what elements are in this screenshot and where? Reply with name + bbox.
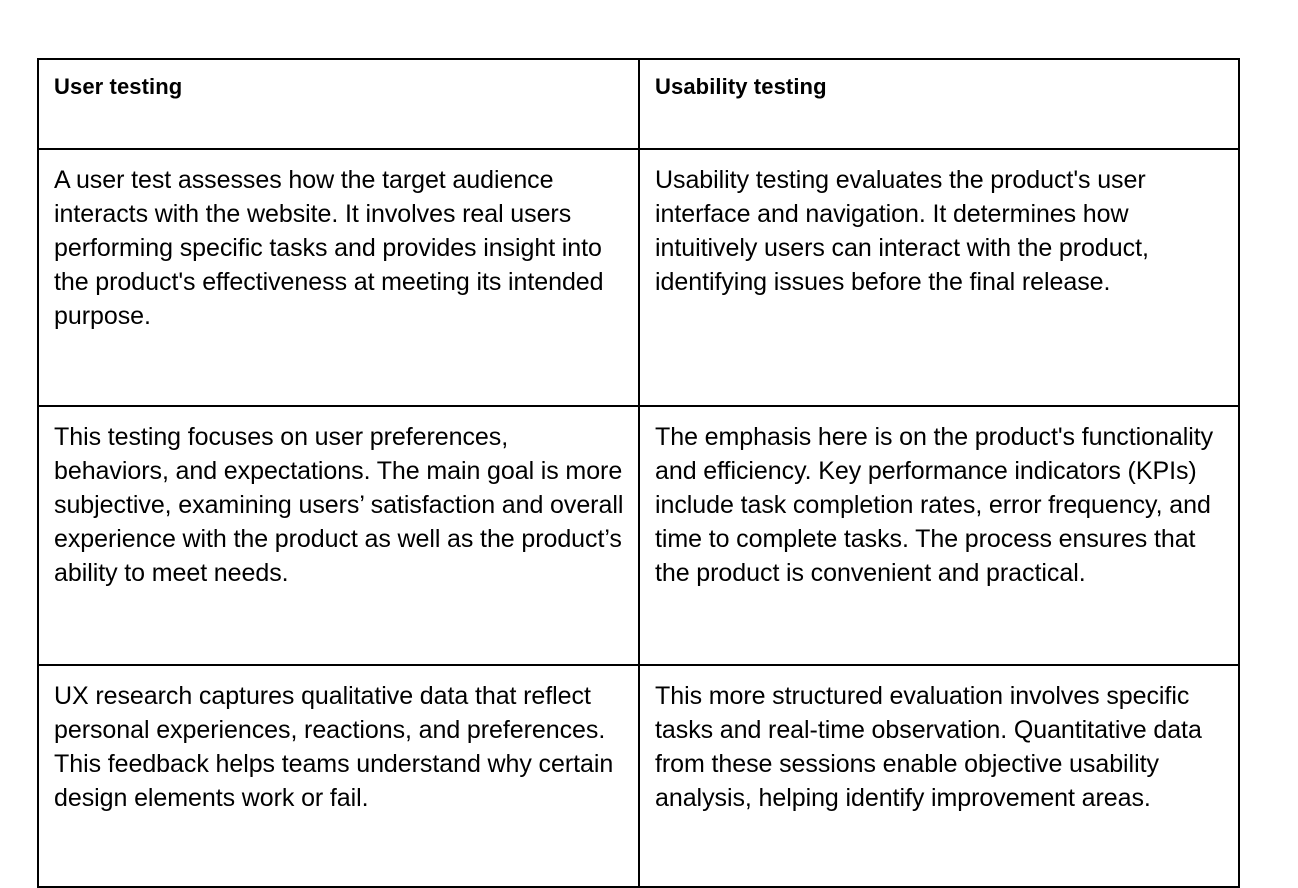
- page-canvas: User testing Usability testing A user te…: [0, 0, 1298, 838]
- cell-user-testing-row-3: UX research captures qualitative data th…: [38, 665, 639, 887]
- comparison-table-container: User testing Usability testing A user te…: [37, 58, 1238, 785]
- table-row: A user test assesses how the target audi…: [38, 149, 1239, 406]
- column-header-usability-testing: Usability testing: [639, 59, 1239, 149]
- cell-text: This more structured evaluation involves…: [655, 679, 1226, 815]
- cell-text: The emphasis here is on the product's fu…: [655, 420, 1226, 590]
- cell-user-testing-row-2: This testing focuses on user preferences…: [38, 406, 639, 665]
- column-header-user-testing: User testing: [38, 59, 639, 149]
- cell-text: UX research captures qualitative data th…: [54, 679, 626, 815]
- table-header-row: User testing Usability testing: [38, 59, 1239, 149]
- table-row: This testing focuses on user preferences…: [38, 406, 1239, 665]
- table-row: UX research captures qualitative data th…: [38, 665, 1239, 887]
- cell-usability-testing-row-3: This more structured evaluation involves…: [639, 665, 1239, 887]
- table-body: A user test assesses how the target audi…: [38, 149, 1239, 887]
- cell-text: This testing focuses on user preferences…: [54, 420, 626, 590]
- cell-text: Usability testing evaluates the product'…: [655, 163, 1226, 299]
- table-header: User testing Usability testing: [38, 59, 1239, 149]
- cell-text: A user test assesses how the target audi…: [54, 163, 626, 333]
- cell-user-testing-row-1: A user test assesses how the target audi…: [38, 149, 639, 406]
- cell-usability-testing-row-1: Usability testing evaluates the product'…: [639, 149, 1239, 406]
- comparison-table: User testing Usability testing A user te…: [37, 58, 1240, 888]
- cell-usability-testing-row-2: The emphasis here is on the product's fu…: [639, 406, 1239, 665]
